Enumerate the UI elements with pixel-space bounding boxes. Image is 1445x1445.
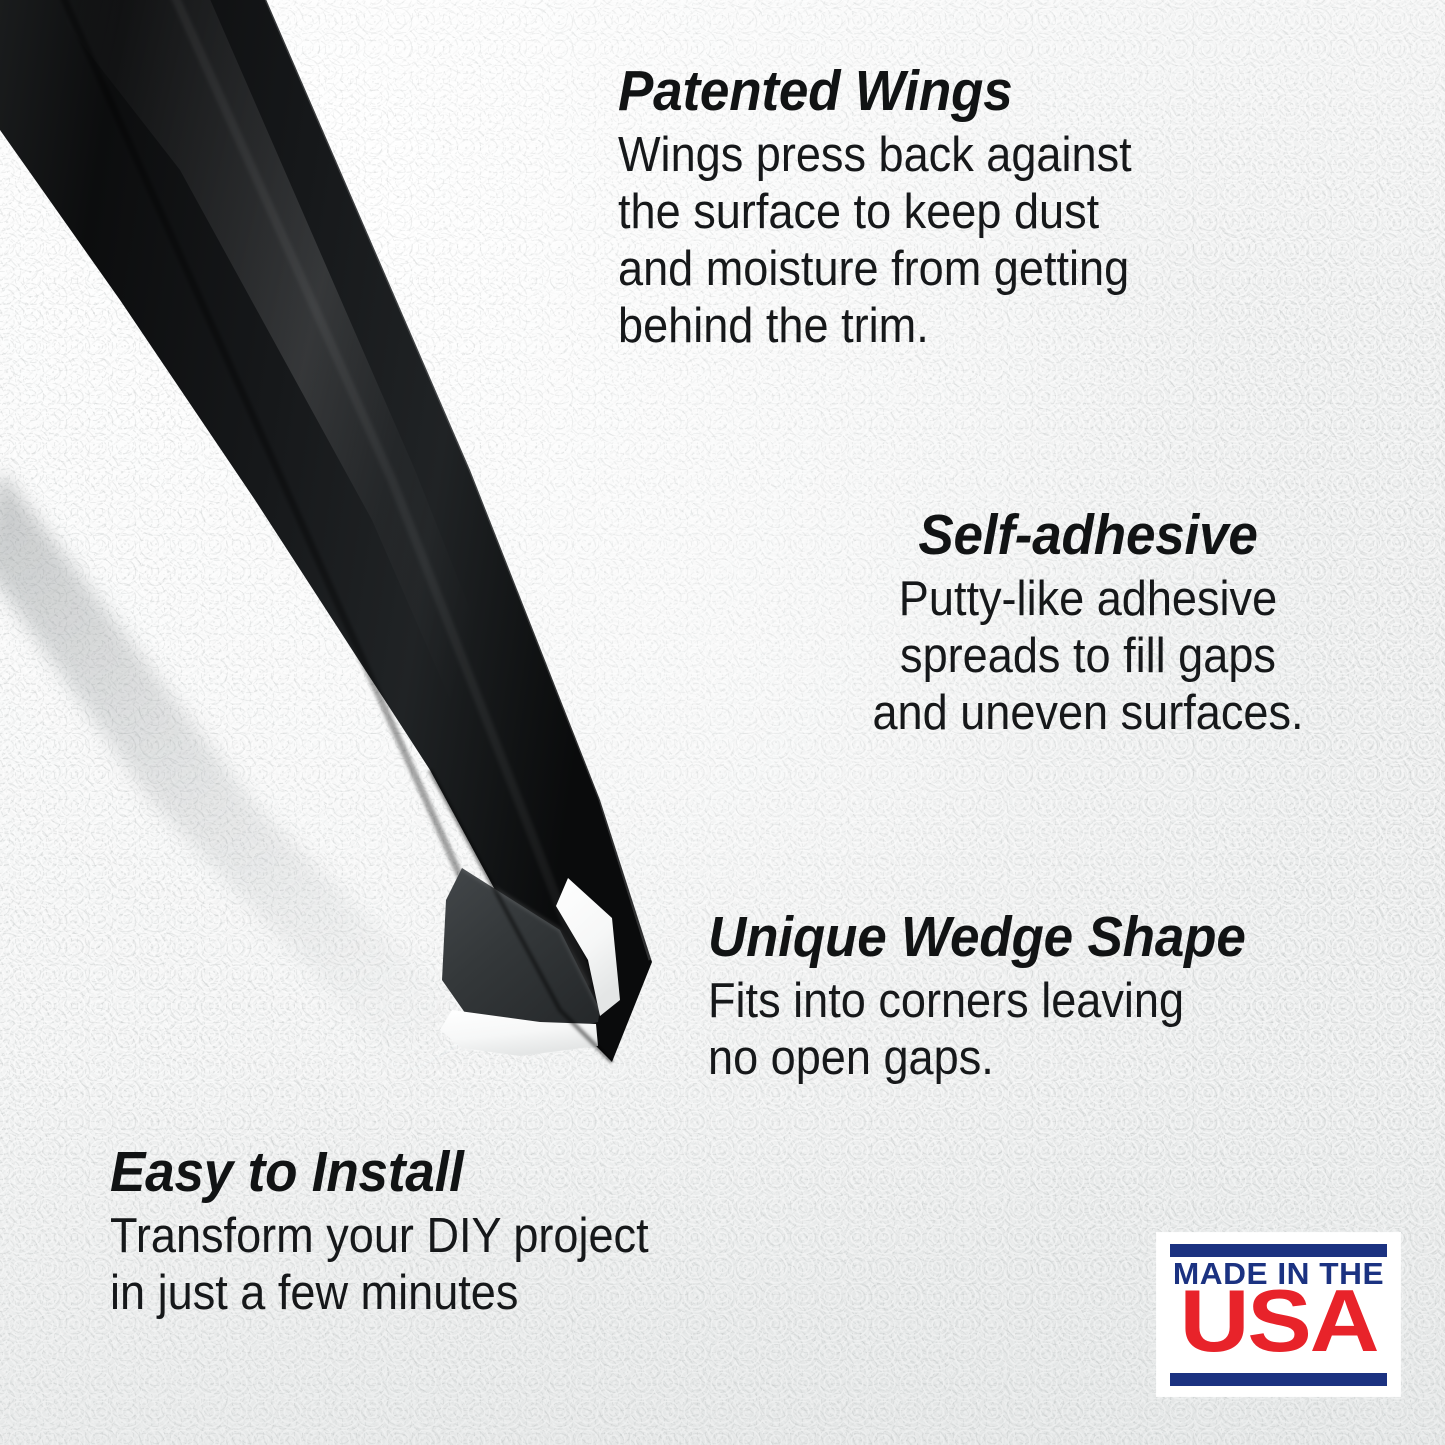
badge-bottom-bar bbox=[1170, 1373, 1387, 1386]
feature-body: Putty-like adhesive spreads to fill gaps… bbox=[812, 571, 1364, 742]
feature-patented-wings: Patented Wings Wings press back against … bbox=[618, 62, 1176, 355]
badge-usa-text: USA bbox=[1159, 1284, 1398, 1358]
feature-heading: Self-adhesive bbox=[809, 506, 1367, 565]
product-infographic: Patented Wings Wings press back against … bbox=[0, 0, 1445, 1445]
feature-heading: Unique Wedge Shape bbox=[708, 908, 1246, 967]
feature-heading: Patented Wings bbox=[618, 62, 1137, 121]
feature-self-adhesive: Self-adhesive Putty-like adhesive spread… bbox=[788, 506, 1388, 742]
feature-body: Fits into corners leaving no open gaps. bbox=[708, 973, 1240, 1087]
feature-body: Wings press back against the surface to … bbox=[618, 127, 1132, 355]
badge-text-group: MADE IN THE USA bbox=[1170, 1257, 1387, 1373]
feature-easy-to-install: Easy to Install Transform your DIY proje… bbox=[110, 1143, 695, 1322]
feature-body: Transform your DIY project in just a few… bbox=[110, 1208, 649, 1322]
made-in-the-usa-badge: MADE IN THE USA bbox=[1157, 1233, 1400, 1396]
feature-heading: Easy to Install bbox=[110, 1143, 654, 1202]
feature-unique-wedge-shape: Unique Wedge Shape Fits into corners lea… bbox=[708, 908, 1286, 1087]
